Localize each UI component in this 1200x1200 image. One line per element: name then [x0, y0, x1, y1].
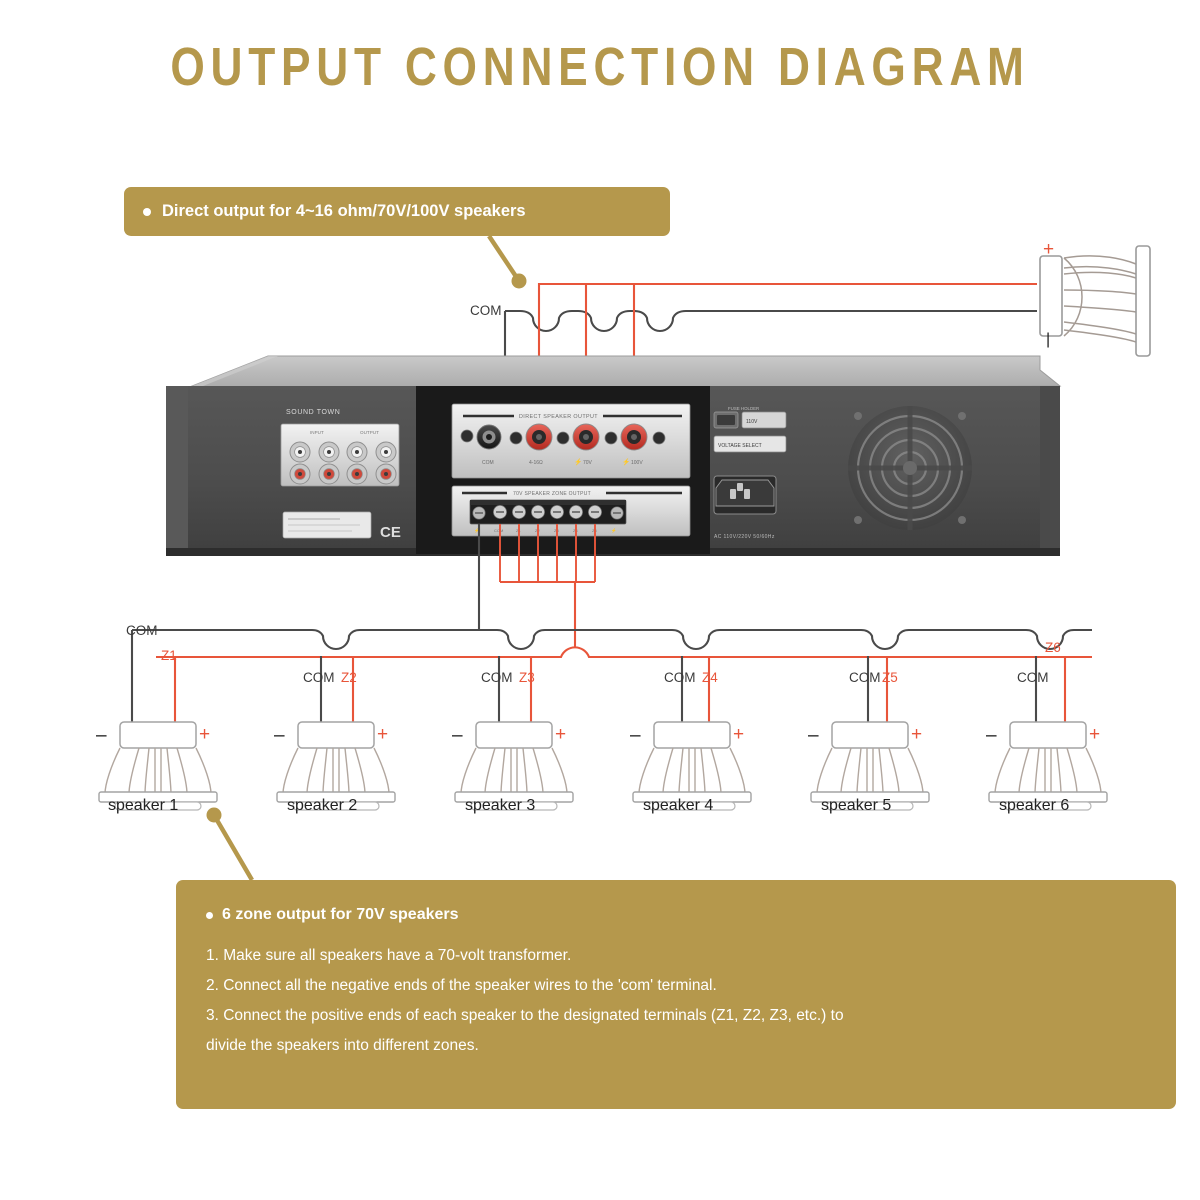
speaker-5-plus: +	[911, 725, 922, 744]
zone-label-z5: Z5	[882, 670, 898, 685]
instruction-line-2: 2. Connect all the negative ends of the …	[206, 971, 1146, 1001]
svg-text:110V: 110V	[746, 419, 758, 425]
zone-label-z1: Z1	[161, 648, 177, 663]
zone-output-panel: 70V SPEAKER ZONE OUTPUT	[452, 486, 690, 536]
speaker-1-minus: –	[96, 726, 107, 745]
svg-text:⚡: ⚡	[574, 458, 582, 466]
svg-text:COM: COM	[482, 460, 494, 466]
instruction-line-1: 1. Make sure all speakers have a 70-volt…	[206, 941, 1146, 971]
zone-com-label-2: COM	[303, 670, 335, 685]
callout-bottom-heading: 6 zone output for 70V speakers	[222, 906, 459, 924]
svg-text:4-16Ω: 4-16Ω	[529, 460, 543, 466]
zone-speaker-illustrations	[99, 722, 1107, 810]
speaker-label-5: speaker 5	[821, 797, 891, 815]
iec-power-inlet[interactable]	[714, 476, 776, 514]
svg-text:SOUND TOWN: SOUND TOWN	[286, 409, 340, 416]
instruction-line-4: divide the speakers into different zones…	[206, 1031, 1146, 1061]
svg-text:⚡: ⚡	[622, 458, 630, 466]
amplifier-rear-panel: SOUND TOWN INPUT OUTPUT	[166, 356, 1060, 556]
callout-bottom-pointer-dot	[207, 808, 222, 823]
svg-text:INPUT: INPUT	[310, 430, 324, 435]
speaker-label-4: speaker 4	[643, 797, 713, 815]
speaker-3-plus: +	[555, 725, 566, 744]
speaker-label-6: speaker 6	[999, 797, 1069, 815]
speaker-2-plus: +	[377, 725, 388, 744]
speaker-6-plus: +	[1089, 725, 1100, 744]
fan-grille	[848, 406, 972, 530]
direct-speaker-output-panel: DIRECT SPEAKER OUTPUT COM 4-	[452, 404, 690, 478]
zone-com-label-5: COM	[849, 670, 881, 685]
speaker-4-minus: –	[630, 726, 641, 745]
svg-text:DIRECT SPEAKER OUTPUT: DIRECT SPEAKER OUTPUT	[519, 414, 598, 420]
zone-label-z2: Z2	[341, 670, 357, 685]
zone-com-label-3: COM	[481, 670, 513, 685]
callout-top-text: Direct output for 4~16 ohm/70V/100V spea…	[162, 202, 526, 221]
svg-text:70V: 70V	[583, 460, 593, 466]
speaker-4-plus: +	[733, 725, 744, 744]
zone-label-z6: Z6	[1045, 640, 1061, 655]
zone-label-z4: Z4	[702, 670, 718, 685]
svg-text:CE: CE	[380, 524, 401, 541]
speaker-3-minus: –	[452, 726, 463, 745]
direct-speaker-illustration	[1040, 246, 1150, 356]
zone-terminal-com-right[interactable]	[611, 507, 623, 519]
svg-text:100V: 100V	[631, 460, 643, 466]
direct-com-label: COM	[470, 303, 502, 318]
diagram-canvas: OUTPUT CONNECTION DIAGRAM	[0, 0, 1200, 1200]
bullet-dot-icon	[206, 912, 213, 919]
speaker-2-minus: –	[274, 726, 285, 745]
zone-bus-com-label: COM	[126, 623, 158, 638]
callout-direct-output: Direct output for 4~16 ohm/70V/100V spea…	[124, 187, 670, 236]
direct-speaker-minus: |	[1046, 332, 1050, 348]
direct-speaker-plus: +	[1043, 240, 1054, 259]
zone-terminal-com-left[interactable]	[473, 507, 485, 519]
svg-text:COM: COM	[494, 528, 503, 533]
speaker-5-minus: –	[808, 726, 819, 745]
bullet-dot-icon	[143, 208, 151, 216]
speaker-label-3: speaker 3	[465, 797, 535, 815]
svg-text:VOLTAGE SELECT: VOLTAGE SELECT	[718, 443, 762, 449]
callout-bottom-heading-row: 6 zone output for 70V speakers	[206, 906, 1146, 924]
svg-text:AC 110V/220V 50/60Hz: AC 110V/220V 50/60Hz	[714, 534, 775, 540]
svg-text:70V SPEAKER ZONE OUTPUT: 70V SPEAKER ZONE OUTPUT	[513, 491, 591, 497]
instruction-line-3: 3. Connect the positive ends of each spe…	[206, 1001, 1146, 1031]
speaker-1-plus: +	[199, 725, 210, 744]
speaker-label-1: speaker 1	[108, 797, 178, 815]
zone-com-label-4: COM	[664, 670, 696, 685]
speaker-label-2: speaker 2	[287, 797, 357, 815]
svg-text:FUSE HOLDER: FUSE HOLDER	[728, 406, 759, 411]
callout-zone-output: 6 zone output for 70V speakers 1. Make s…	[176, 880, 1176, 1109]
speaker-6-minus: –	[986, 726, 997, 745]
callout-top-pointer-dot	[512, 274, 527, 289]
svg-text:OUTPUT: OUTPUT	[360, 430, 379, 435]
zone-com-label-6: COM	[1017, 670, 1049, 685]
zone-label-z3: Z3	[519, 670, 535, 685]
